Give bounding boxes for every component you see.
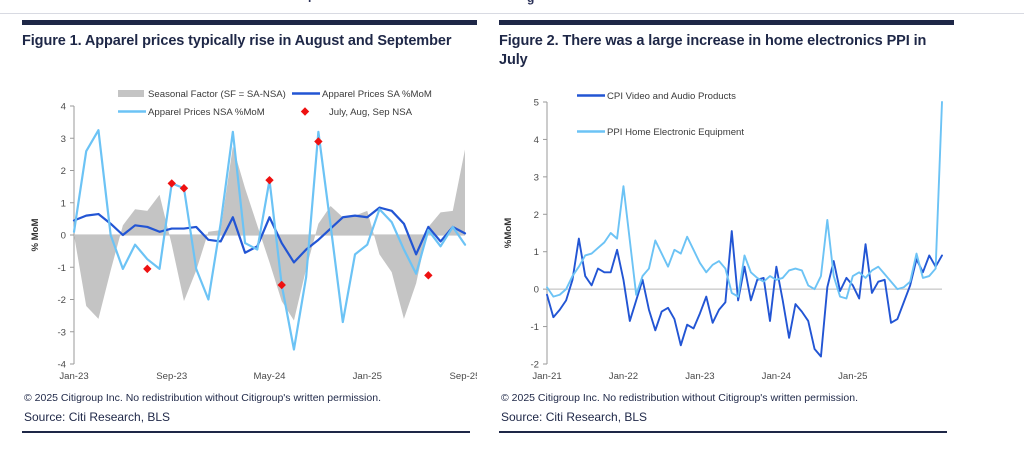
svg-text:1: 1: [61, 198, 66, 209]
svg-text:-2: -2: [57, 295, 66, 306]
report-page: l g Figure 1. Apparel prices typically r…: [0, 0, 1024, 453]
svg-text:Apparel Prices SA %MoM: Apparel Prices SA %MoM: [322, 89, 432, 100]
svg-text:Jan-23: Jan-23: [685, 371, 714, 382]
clipped-text-above: l g: [0, 0, 1024, 14]
figure1-title: Figure 1. Apparel prices typically rise …: [22, 32, 468, 51]
figure1-copyright: © 2025 Citigroup Inc. No redistribution …: [24, 392, 474, 404]
svg-text:2: 2: [61, 166, 66, 177]
svg-text:Apparel Prices NSA %MoM: Apparel Prices NSA %MoM: [148, 107, 265, 118]
svg-text:Jan-21: Jan-21: [532, 371, 561, 382]
svg-text:3: 3: [61, 134, 66, 145]
svg-text:0: 0: [534, 285, 539, 296]
clipped-fragment-a: l: [308, 0, 311, 5]
svg-text:PPI Home Electronic Equipment: PPI Home Electronic Equipment: [607, 127, 744, 138]
svg-text:%MoM: %MoM: [503, 218, 514, 248]
svg-text:-1: -1: [530, 322, 539, 333]
svg-text:May-24: May-24: [254, 371, 287, 382]
svg-text:-1: -1: [57, 263, 66, 274]
figure2-bottom-rule: [499, 431, 947, 433]
figure1-bottom-rule: [22, 431, 470, 433]
svg-text:-2: -2: [530, 360, 539, 371]
svg-text:Jan-25: Jan-25: [838, 371, 867, 382]
svg-text:4: 4: [61, 102, 67, 113]
svg-text:Sep-23: Sep-23: [156, 371, 187, 382]
figure2-chart: 543210-1-2Jan-21Jan-22Jan-23Jan-24Jan-25…: [499, 86, 954, 386]
figure2-title: Figure 2. There was a large increase in …: [499, 32, 945, 70]
svg-text:Jan-23: Jan-23: [59, 371, 88, 382]
svg-text:July, Aug, Sep NSA: July, Aug, Sep NSA: [329, 107, 413, 118]
figure2-source: Source: Citi Research, BLS: [501, 410, 951, 424]
svg-text:1: 1: [534, 247, 539, 258]
figure2-svg: 543210-1-2Jan-21Jan-22Jan-23Jan-24Jan-25…: [499, 86, 954, 386]
figure2-panel: Figure 2. There was a large increase in …: [499, 20, 954, 445]
figure2-header-bar: [499, 20, 954, 25]
svg-text:Jan-22: Jan-22: [609, 371, 638, 382]
svg-text:-4: -4: [57, 360, 66, 371]
svg-text:4: 4: [534, 135, 540, 146]
svg-text:0: 0: [61, 231, 66, 242]
svg-text:CPI Video and Audio Products: CPI Video and Audio Products: [607, 91, 736, 102]
svg-text:Jan-25: Jan-25: [353, 371, 382, 382]
svg-text:Jan-24: Jan-24: [762, 371, 792, 382]
figure1-chart: 43210-1-2-3-4Jan-23Sep-23May-24Jan-25Sep…: [22, 86, 477, 386]
svg-text:2: 2: [534, 210, 539, 221]
svg-text:-3: -3: [57, 327, 66, 338]
clipped-fragment-b: g: [527, 0, 534, 5]
svg-text:Seasonal Factor (SF = SA-NSA): Seasonal Factor (SF = SA-NSA): [148, 89, 286, 100]
figure1-source: Source: Citi Research, BLS: [24, 410, 474, 424]
figure1-header-bar: [22, 20, 477, 25]
figure1-svg: 43210-1-2-3-4Jan-23Sep-23May-24Jan-25Sep…: [22, 86, 477, 386]
top-divider-rule: [0, 13, 1024, 14]
svg-text:Sep-25: Sep-25: [450, 371, 477, 382]
figure1-panel: Figure 1. Apparel prices typically rise …: [22, 20, 477, 445]
svg-text:5: 5: [534, 98, 539, 109]
figure2-copyright: © 2025 Citigroup Inc. No redistribution …: [501, 392, 951, 404]
svg-text:3: 3: [534, 172, 539, 183]
svg-text:% MoM: % MoM: [30, 218, 41, 251]
